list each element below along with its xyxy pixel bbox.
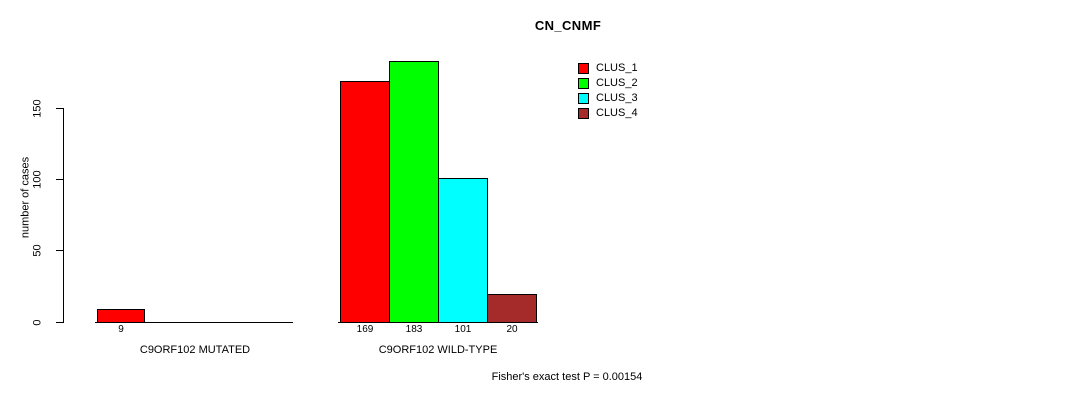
legend-item-clus-3[interactable]: CLUS_3	[578, 91, 638, 106]
group-label-wild-type: C9ORF102 WILD-TYPE	[328, 344, 548, 356]
group-label-mutated: C9ORF102 MUTATED	[85, 344, 305, 356]
y-tick-mark-0	[56, 322, 63, 323]
legend-label-clus-3: CLUS_3	[596, 93, 638, 104]
bar-value-group2-clus1: 169	[345, 324, 385, 335]
legend-item-clus-1[interactable]: CLUS_1	[578, 61, 638, 76]
bar-value-group2-clus2: 183	[394, 324, 434, 335]
bar-chart-plot: CN_CNMF 0 50 100 150 number of cases 9 C…	[0, 0, 1090, 400]
legend-label-clus-4: CLUS_4	[596, 108, 638, 119]
legend-item-clus-4[interactable]: CLUS_4	[578, 106, 638, 121]
legend-label-clus-1: CLUS_1	[596, 63, 638, 74]
bar-value-group1-clus1: 9	[101, 324, 141, 335]
bar-group2-clus4[interactable]	[487, 294, 537, 323]
chart-title-text: CN_CNMF	[535, 18, 601, 33]
legend-swatch-clus-3	[578, 93, 589, 104]
y-tick-label-100: 100	[33, 168, 44, 192]
legend-item-clus-2[interactable]: CLUS_2	[578, 76, 638, 91]
bar-group2-clus3[interactable]	[438, 178, 488, 323]
y-tick-label-50: 50	[33, 239, 44, 263]
y-tick-mark-50	[56, 250, 63, 251]
bar-group1-clus1[interactable]	[97, 309, 145, 323]
footer-note: Fisher's exact test P = 0.00154	[0, 371, 1090, 383]
legend-swatch-clus-4	[578, 108, 589, 119]
chart-title: CN_CNMF	[0, 18, 1090, 33]
legend-swatch-clus-2	[578, 78, 589, 89]
legend-swatch-clus-1	[578, 63, 589, 74]
bar-value-group2-clus3: 101	[443, 324, 483, 335]
y-axis-line	[63, 108, 64, 323]
y-tick-mark-100	[56, 179, 63, 180]
y-axis-title: number of cases	[21, 128, 32, 268]
fisher-test-text: Fisher's exact test P = 0.00154	[492, 371, 643, 383]
legend-label-clus-2: CLUS_2	[596, 78, 638, 89]
y-tick-label-0: 0	[33, 311, 44, 335]
y-tick-label-150: 150	[33, 97, 44, 121]
bar-value-group2-clus4: 20	[492, 324, 532, 335]
bar-group2-clus1[interactable]	[340, 81, 390, 323]
legend: CLUS_1 CLUS_2 CLUS_3 CLUS_4	[578, 61, 638, 121]
y-tick-mark-150	[56, 108, 63, 109]
bar-group2-clus2[interactable]	[389, 61, 439, 323]
